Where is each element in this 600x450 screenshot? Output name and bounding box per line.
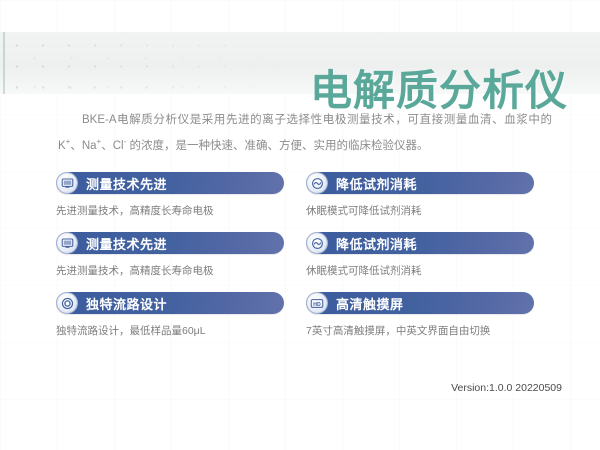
feature-pill[interactable]: 降低试剂消耗 bbox=[306, 232, 534, 254]
feature-title: 降低试剂消耗 bbox=[336, 234, 417, 253]
feature-subtitle: 7英寸高清触摸屏，中英文界面自由切换 bbox=[306, 323, 556, 338]
description-line2-cl: 、Cl bbox=[101, 139, 123, 151]
feature-item[interactable]: 测量技术先进 先进测量技术，高精度长寿命电极 bbox=[56, 172, 306, 232]
feature-pill[interactable]: 降低试剂消耗 bbox=[306, 172, 534, 194]
feature-pill[interactable]: 测量技术先进 bbox=[56, 172, 284, 194]
feature-title: 测量技术先进 bbox=[86, 234, 167, 253]
feature-title: 降低试剂消耗 bbox=[336, 174, 417, 193]
ring-icon bbox=[57, 293, 77, 313]
feature-pill[interactable]: 测量技术先进 bbox=[56, 232, 284, 254]
feature-title: 高清触摸屏 bbox=[336, 294, 404, 313]
feature-pill[interactable]: HD 高清触摸屏 bbox=[306, 292, 534, 314]
product-description: BKE-A电解质分析仪是采用先进的离子选择性电极测量技术，可直接测量血清、血浆中… bbox=[58, 110, 552, 157]
feature-item[interactable]: 测量技术先进 先进测量技术，高精度长寿命电极 bbox=[56, 232, 306, 292]
feature-pill[interactable]: 独特流路设计 bbox=[56, 292, 284, 314]
feature-title: 测量技术先进 bbox=[86, 174, 167, 193]
feature-subtitle: 休眠模式可降低试剂消耗 bbox=[306, 203, 556, 218]
feature-subtitle: 先进测量技术，高精度长寿命电极 bbox=[56, 203, 306, 218]
feature-item[interactable]: HD 高清触摸屏 7英寸高清触摸屏，中英文界面自由切换 bbox=[306, 292, 556, 352]
hd-icon: HD bbox=[307, 293, 327, 313]
description-line2-rest: 的浓度，是一种快速、准确、方便、实用的临床检验仪器。 bbox=[126, 139, 428, 151]
feature-item[interactable]: 独特流路设计 独特流路设计，最低样品量60μL bbox=[56, 292, 306, 352]
version-label: Version:1.0.0 20220509 bbox=[451, 382, 562, 394]
wave-circle-icon bbox=[307, 173, 327, 193]
feature-subtitle: 先进测量技术，高精度长寿命电极 bbox=[56, 263, 306, 278]
wave-circle-icon bbox=[307, 233, 327, 253]
feature-subtitle: 独特流路设计，最低样品量60μL bbox=[56, 323, 306, 338]
feature-grid: 测量技术先进 先进测量技术，高精度长寿命电极 降低试剂消耗 休眠模式可降低试剂消… bbox=[56, 172, 556, 352]
feature-subtitle: 休眠模式可降低试剂消耗 bbox=[306, 263, 556, 278]
monitor-icon bbox=[57, 233, 77, 253]
description-line1-punct: 、 bbox=[70, 139, 82, 151]
feature-title: 独特流路设计 bbox=[86, 294, 167, 313]
monitor-icon bbox=[57, 173, 77, 193]
feature-item[interactable]: 降低试剂消耗 休眠模式可降低试剂消耗 bbox=[306, 172, 556, 232]
feature-item[interactable]: 降低试剂消耗 休眠模式可降低试剂消耗 bbox=[306, 232, 556, 292]
svg-text:HD: HD bbox=[313, 301, 321, 307]
description-line2-na: Na bbox=[82, 139, 97, 151]
